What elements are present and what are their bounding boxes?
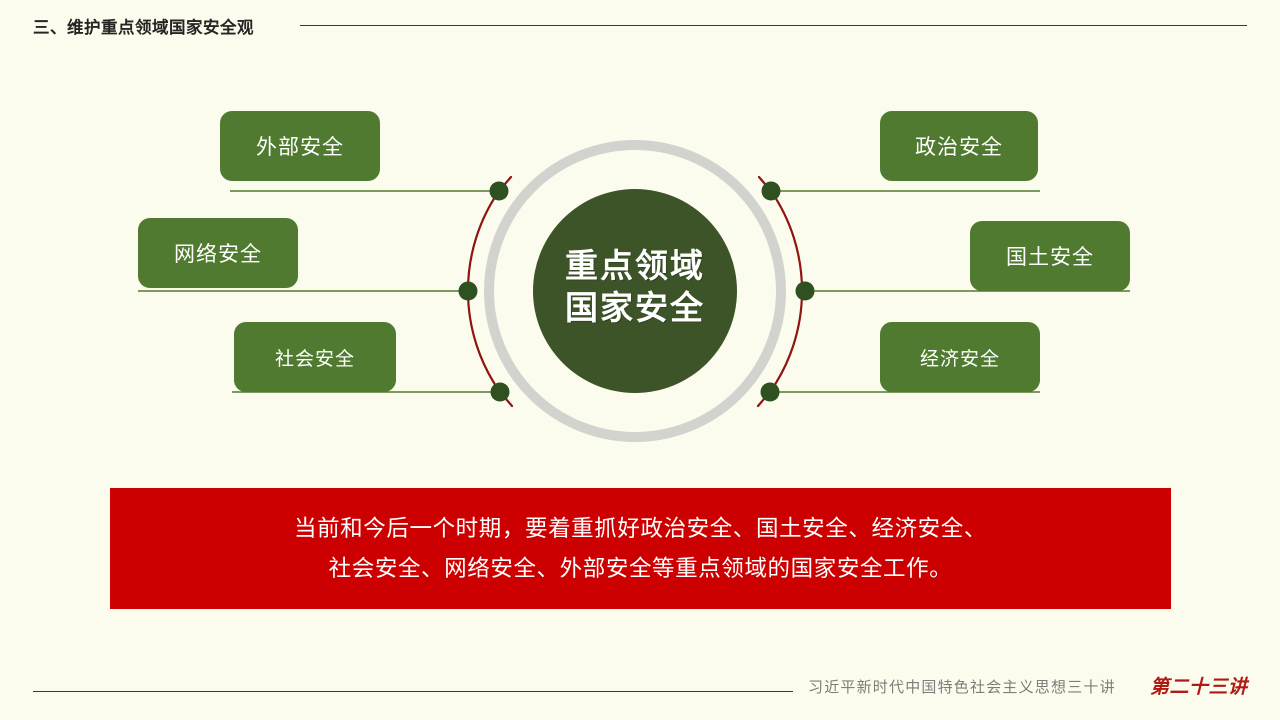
slide-header: 三、维护重点领域国家安全观 <box>0 0 1280 52</box>
node-label: 政治安全 <box>915 131 1003 161</box>
banner-line-1: 当前和今后一个时期，要着重抓好政治安全、国土安全、经济安全、 <box>294 509 987 548</box>
node-label: 经济安全 <box>920 344 1000 371</box>
node-economic-security[interactable]: 经济安全 <box>880 322 1040 392</box>
footer-divider <box>33 691 793 692</box>
node-homeland-security[interactable]: 国土安全 <box>970 221 1130 291</box>
summary-banner: 当前和今后一个时期，要着重抓好政治安全、国土安全、经济安全、 社会安全、网络安全… <box>110 488 1171 609</box>
footer-lecture-number: 第二十三讲 <box>1150 672 1248 699</box>
node-label: 国土安全 <box>1006 241 1094 271</box>
junction-dot-cyber <box>459 282 478 301</box>
node-political-security[interactable]: 政治安全 <box>880 111 1038 181</box>
junction-dot-political <box>762 182 781 201</box>
page-title: 三、维护重点领域国家安全观 <box>33 14 254 38</box>
slide: 三、维护重点领域国家安全观 <box>0 0 1280 720</box>
junction-dot-external <box>490 182 509 201</box>
node-cyber-security[interactable]: 网络安全 <box>138 218 298 288</box>
security-diagram: 重点领域 国家安全 外部安全 网络安全 社会安全 政治安全 国土安全 经济安全 <box>0 60 1280 480</box>
banner-line-2: 社会安全、网络安全、外部安全等重点领域的国家安全工作。 <box>329 549 953 588</box>
footer-series-title: 习近平新时代中国特色社会主义思想三十讲 <box>808 676 1116 697</box>
node-label: 网络安全 <box>174 238 262 268</box>
junction-dot-homeland <box>796 282 815 301</box>
node-label: 外部安全 <box>256 131 344 161</box>
node-label: 社会安全 <box>275 344 355 371</box>
node-social-security[interactable]: 社会安全 <box>234 322 396 392</box>
junction-dot-economic <box>761 383 780 402</box>
center-circle <box>533 189 737 393</box>
header-divider <box>300 25 1247 26</box>
node-external-security[interactable]: 外部安全 <box>220 111 380 181</box>
junction-dot-social <box>491 383 510 402</box>
